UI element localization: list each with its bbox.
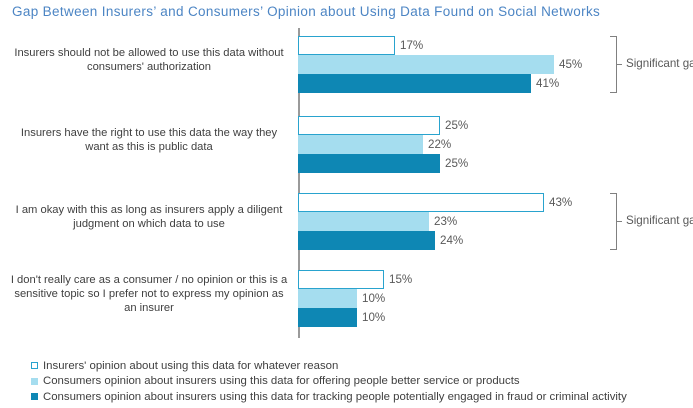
bar-series-1[interactable]	[298, 36, 395, 55]
significant-gap-label: Significant gap	[626, 214, 693, 227]
chart-legend: Insurers' opinion about using this data …	[31, 357, 691, 404]
bracket-icon	[610, 36, 617, 93]
legend-swatch-icon	[31, 378, 38, 385]
legend-label: Consumers opinion about insurers using t…	[43, 391, 627, 403]
bar-value-label: 10%	[357, 292, 385, 305]
bar-value-label: 24%	[435, 234, 463, 247]
bar-series-3[interactable]	[298, 74, 531, 93]
legend-item[interactable]: Consumers opinion about insurers using t…	[31, 373, 691, 389]
bar-series-1[interactable]	[298, 270, 384, 289]
table-row: 22%	[298, 135, 468, 154]
table-row: 25%	[298, 154, 468, 173]
bar-value-label: 23%	[429, 215, 457, 228]
table-row: 45%	[298, 55, 582, 74]
legend-label: Consumers opinion about insurers using t…	[43, 375, 520, 387]
bar-series-1[interactable]	[298, 116, 440, 135]
bracket-tick-icon	[617, 64, 622, 65]
table-row: 43%	[298, 193, 572, 212]
bar-value-label: 25%	[440, 119, 468, 132]
bar-series-2[interactable]	[298, 289, 357, 308]
category-label: I don't really care as a consumer / no o…	[8, 273, 290, 315]
legend-item[interactable]: Consumers opinion about insurers using t…	[31, 388, 691, 404]
bar-series-3[interactable]	[298, 308, 357, 327]
bar-value-label: 17%	[395, 39, 423, 52]
significant-gap-label: Significant gap	[626, 57, 693, 70]
legend-swatch-icon	[31, 393, 38, 400]
bar-series-2[interactable]	[298, 55, 554, 74]
legend-swatch-icon	[31, 362, 38, 369]
bracket-tick-icon	[617, 221, 622, 222]
bar-value-label: 15%	[384, 273, 412, 286]
bar-cluster: 17% 45% 41%	[298, 36, 582, 93]
chart-title: Gap Between Insurers’ and Consumers’ Opi…	[12, 4, 682, 19]
bar-series-3[interactable]	[298, 231, 435, 250]
legend-label: Insurers' opinion about using this data …	[43, 360, 338, 372]
bar-value-label: 43%	[544, 196, 572, 209]
table-row: 10%	[298, 289, 412, 308]
plot-area: Insurers should not be allowed to use th…	[0, 28, 693, 346]
category-label: Insurers have the right to use this data…	[8, 126, 290, 154]
bar-cluster: 15% 10% 10%	[298, 270, 412, 327]
table-row: 25%	[298, 116, 468, 135]
bar-series-2[interactable]	[298, 212, 429, 231]
bar-series-1[interactable]	[298, 193, 544, 212]
bar-value-label: 25%	[440, 157, 468, 170]
bar-value-label: 41%	[531, 77, 559, 90]
table-row: 10%	[298, 308, 412, 327]
table-row: 15%	[298, 270, 412, 289]
bar-cluster: 43% 23% 24%	[298, 193, 572, 250]
table-row: 24%	[298, 231, 572, 250]
bar-series-3[interactable]	[298, 154, 440, 173]
bar-cluster: 25% 22% 25%	[298, 116, 468, 173]
table-row: 23%	[298, 212, 572, 231]
bar-value-label: 45%	[554, 58, 582, 71]
bar-value-label: 22%	[423, 138, 451, 151]
bracket-icon	[610, 193, 617, 250]
legend-item[interactable]: Insurers' opinion about using this data …	[31, 357, 691, 373]
bar-series-2[interactable]	[298, 135, 423, 154]
table-row: 17%	[298, 36, 582, 55]
category-label: I am okay with this as long as insurers …	[8, 203, 290, 231]
table-row: 41%	[298, 74, 582, 93]
bar-value-label: 10%	[357, 311, 385, 324]
category-label: Insurers should not be allowed to use th…	[8, 46, 290, 74]
